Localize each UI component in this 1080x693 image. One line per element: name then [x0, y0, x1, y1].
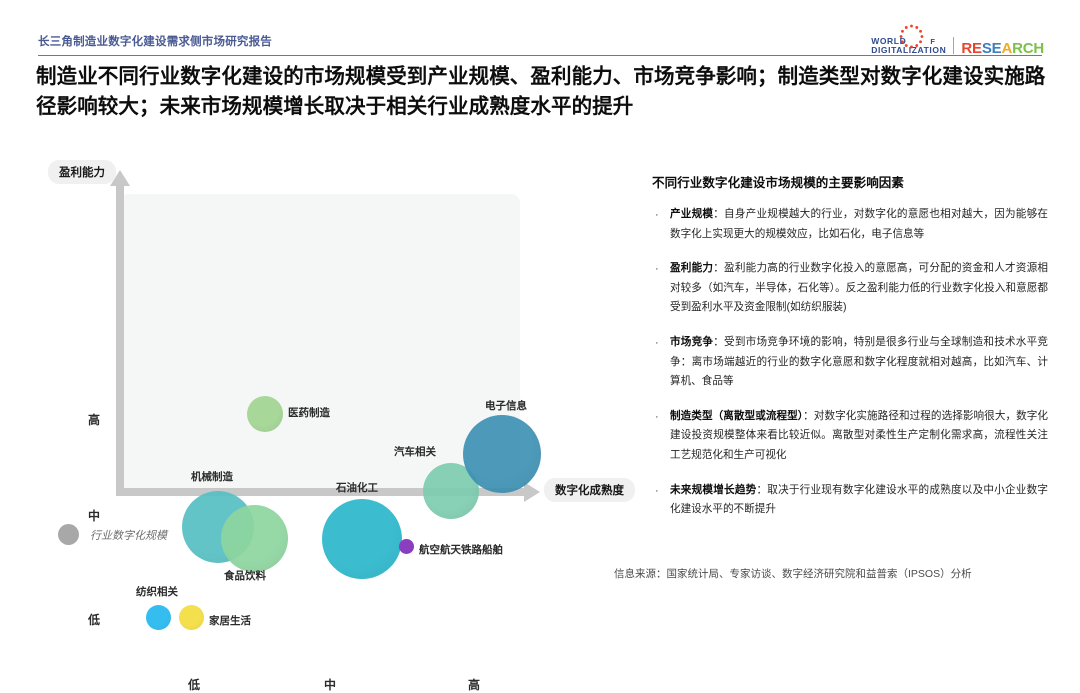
factors-heading: 不同行业数字化建设市场规模的主要影响因素 [652, 172, 1048, 191]
x-axis-tick-2: 高 [468, 676, 480, 693]
logo-research-letter: C [1023, 40, 1034, 57]
breadcrumb: 长三角制造业数字化建设需求侧市场研究报告 [38, 33, 272, 49]
logo-research-letter: A [1001, 40, 1012, 57]
y-axis-title: 盈利能力 [48, 160, 116, 184]
logo-research-letter: H [1033, 40, 1044, 57]
bubble-label-2: 食品饮料 [224, 568, 266, 583]
bubble-8[interactable] [179, 605, 204, 630]
factor-item-3: ·制造类型（离散型或流程型）：对数字化实施路径和过程的选择影响很大，数字化建设投… [652, 407, 1048, 466]
factor-bullet-icon: · [652, 259, 670, 318]
brand-logo: WORLD F DIGITALIZATION RESEARCH [871, 21, 1044, 55]
y-axis-tick-0: 高 [88, 411, 100, 428]
factors-list: ·产业规模：自身产业规模越大的行业，对数字化的意愿也相对越大，因为能够在数字化上… [652, 205, 1048, 520]
factor-text-1: 盈利能力：盈利能力高的行业数字化投入的意愿高，可分配的资金和人才资源相对较多（如… [670, 259, 1048, 318]
factor-item-0: ·产业规模：自身产业规模越大的行业，对数字化的意愿也相对越大，因为能够在数字化上… [652, 205, 1048, 244]
logo-separator [953, 37, 954, 54]
bubble-label-1: 机械制造 [191, 469, 233, 484]
y-axis-tick-1: 中 [88, 507, 100, 524]
factor-item-1: ·盈利能力：盈利能力高的行业数字化投入的意愿高，可分配的资金和人才资源相对较多（… [652, 259, 1048, 318]
plot-area [120, 194, 520, 490]
factor-term-2: 市场竞争 [670, 336, 713, 348]
logo-research-text: RESEARCH [961, 40, 1044, 57]
factor-text-4: 未来规模增长趋势：取决于行业现有数字化建设水平的成熟度以及中小企业数字化建设水平… [670, 481, 1048, 520]
dotted-ring-icon [898, 23, 925, 50]
logo-research-letter: E [972, 40, 982, 57]
factor-desc-1: ：盈利能力高的行业数字化投入的意愿高，可分配的资金和人才资源相对较多（如汽车，半… [670, 262, 1048, 313]
factor-item-4: ·未来规模增长趋势：取决于行业现有数字化建设水平的成熟度以及中小企业数字化建设水… [652, 481, 1048, 520]
factor-item-2: ·市场竞争：受到市场竞争环境的影响，特别是很多行业与全球制造和技术水平竞争：离市… [652, 333, 1048, 392]
logo-research-letter: S [982, 40, 992, 57]
world-digitalization-logo: WORLD F DIGITALIZATION [871, 37, 953, 55]
legend-label: 行业数字化规模 [90, 527, 167, 543]
header-divider [38, 55, 1042, 56]
page-header: 长三角制造业数字化建设需求侧市场研究报告 WORLD F DIGITALIZAT… [0, 0, 1080, 58]
x-axis-title: 数字化成熟度 [544, 478, 635, 502]
factor-desc-0: ：自身产业规模越大的行业，对数字化的意愿也相对越大，因为能够在数字化上实现更大的… [670, 208, 1048, 240]
factor-text-3: 制造类型（离散型或流程型）：对数字化实施路径和过程的选择影响很大，数字化建设投资… [670, 407, 1048, 466]
logo-research-letter: E [992, 40, 1002, 57]
y-axis-line [116, 184, 124, 496]
factor-bullet-icon: · [652, 407, 670, 466]
factor-term-1: 盈利能力 [670, 262, 713, 274]
bubble-label-4: 汽车相关 [394, 444, 436, 459]
factor-term-4: 未来规模增长趋势 [670, 484, 756, 496]
factors-panel: 不同行业数字化建设市场规模的主要影响因素 ·产业规模：自身产业规模越大的行业，对… [652, 172, 1048, 535]
factor-term-0: 产业规模 [670, 208, 713, 220]
y-axis-tick-2: 低 [88, 611, 100, 628]
x-axis-tick-0: 低 [188, 676, 200, 693]
bubble-7[interactable] [146, 605, 171, 630]
bubble-2[interactable] [221, 505, 288, 572]
bubble-label-7: 纺织相关 [136, 584, 178, 599]
chart-legend: 行业数字化规模 [58, 524, 167, 545]
x-axis-arrowhead [524, 482, 540, 502]
page-title: 制造业不同行业数字化建设的市场规模受到产业规模、盈利能力、市场竞争影响；制造类型… [36, 62, 1048, 121]
bubble-label-5: 电子信息 [485, 398, 527, 413]
factor-desc-2: ：受到市场竞争环境的影响，特别是很多行业与全球制造和技术水平竞争：离市场端越近的… [670, 336, 1048, 387]
source-note: 信息来源：国家统计局、专家访谈、数字经济研究院和益普索（IPSOS）分析 [614, 566, 972, 581]
bubble-label-8: 家居生活 [209, 613, 251, 628]
factor-bullet-icon: · [652, 481, 670, 520]
bubble-label-0: 医药制造 [288, 405, 330, 420]
bubble-0[interactable] [247, 396, 283, 432]
bubble-chart: 盈利能力 数字化成熟度 高中低低中高 医药制造机械制造食品饮料石油化工汽车相关电… [36, 168, 636, 568]
factor-bullet-icon: · [652, 333, 670, 392]
bubble-6[interactable] [399, 539, 414, 554]
bubble-5[interactable] [463, 415, 541, 493]
logo-research-letter: R [961, 40, 972, 57]
x-axis-tick-1: 中 [324, 676, 336, 693]
factor-term-3: 制造类型（离散型或流程型） [670, 410, 803, 422]
bubble-label-3: 石油化工 [336, 480, 378, 495]
factor-bullet-icon: · [652, 205, 670, 244]
legend-swatch-icon [58, 524, 79, 545]
factor-text-2: 市场竞争：受到市场竞争环境的影响，特别是很多行业与全球制造和技术水平竞争：离市场… [670, 333, 1048, 392]
bubble-label-6: 航空航天铁路船舶 [419, 542, 503, 557]
logo-research-letter: R [1012, 40, 1023, 57]
factor-text-0: 产业规模：自身产业规模越大的行业，对数字化的意愿也相对越大，因为能够在数字化上实… [670, 205, 1048, 244]
bubble-3[interactable] [322, 499, 402, 579]
